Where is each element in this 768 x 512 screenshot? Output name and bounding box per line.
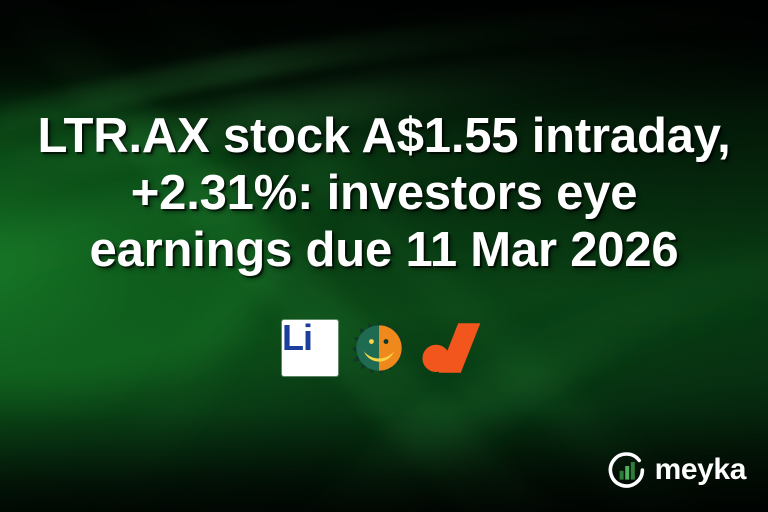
brand-logo: meyka [608, 450, 746, 490]
logo-strip: Li [0, 314, 768, 382]
headline-text: LTR.AX stock A$1.55 intraday, +2.31%: in… [0, 108, 768, 279]
li-logo-label: Li [282, 320, 338, 376]
brand-name: meyka [655, 455, 746, 485]
orange-a-logo [420, 322, 486, 374]
share-card: LTR.AX stock A$1.55 intraday, +2.31%: in… [0, 0, 768, 512]
sun-face-logo [352, 321, 406, 375]
sun-face-starburst-icon [352, 321, 406, 375]
li-logo: Li [282, 320, 338, 376]
orange-a-mark-icon [420, 322, 486, 374]
meyka-circle-bars-icon [608, 450, 648, 490]
